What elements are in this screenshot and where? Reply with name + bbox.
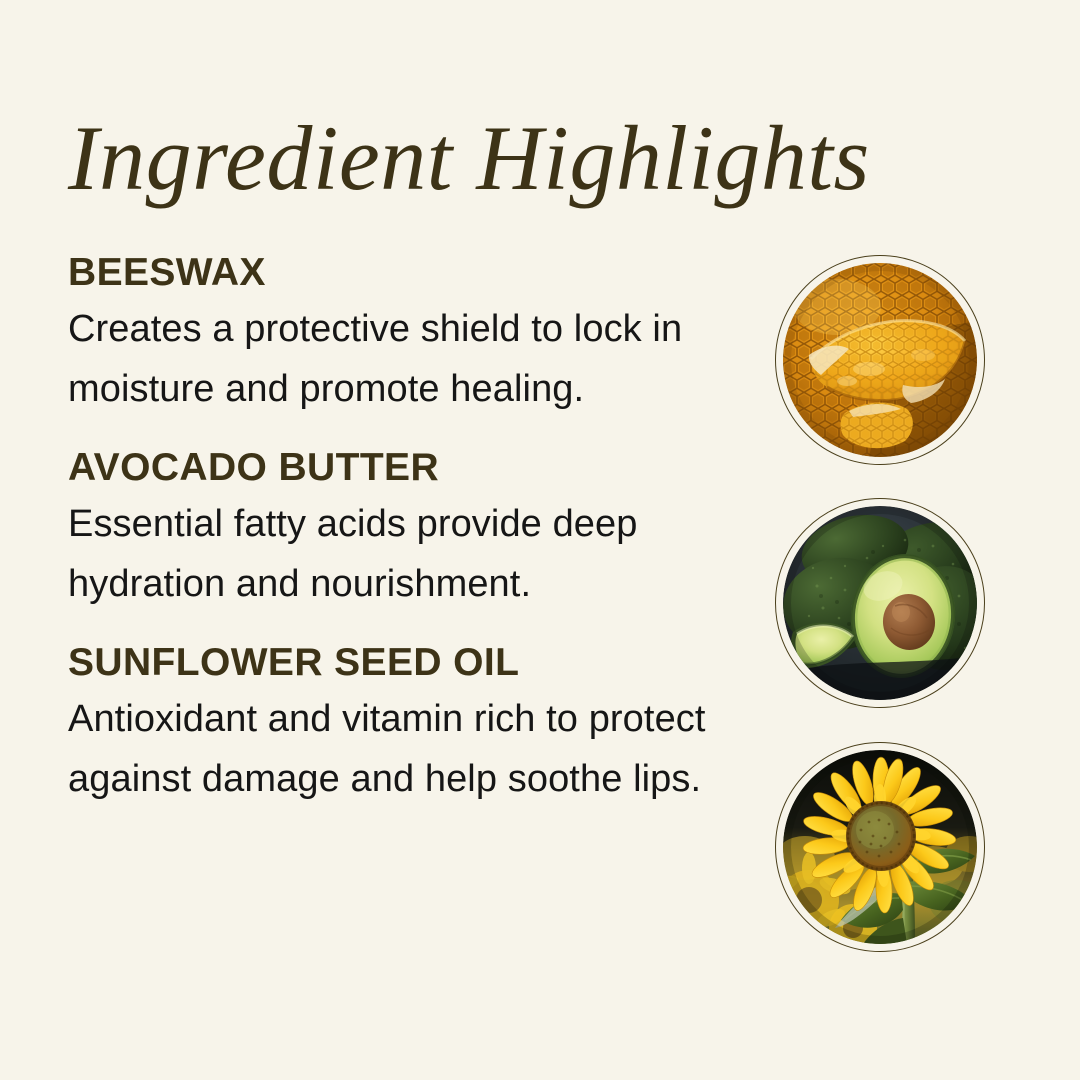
ingredient-image-beeswax: [775, 255, 985, 465]
list-item: SUNFLOWER SEED OIL Antioxidant and vitam…: [68, 642, 768, 809]
ingredient-list: BEESWAX Creates a protective shield to l…: [68, 252, 768, 810]
ingredient-description-beeswax: Creates a protective shield to lock in m…: [68, 299, 758, 419]
ingredient-image-sunflower-seed-oil: [775, 742, 985, 952]
honeycomb-photo: [783, 263, 977, 457]
sunflower-photo: [783, 750, 977, 944]
ingredient-description-sunflower-seed-oil: Antioxidant and vitamin rich to protect …: [68, 689, 758, 809]
ingredient-name-avocado-butter: AVOCADO BUTTER: [68, 447, 768, 489]
ingredient-description-avocado-butter: Essential fatty acids provide deep hydra…: [68, 494, 758, 614]
avocado-photo: [783, 506, 977, 700]
ingredient-name-sunflower-seed-oil: SUNFLOWER SEED OIL: [68, 642, 768, 684]
page-title: Ingredient Highlights: [68, 112, 870, 204]
ingredient-image-avocado-butter: [775, 498, 985, 708]
list-item: AVOCADO BUTTER Essential fatty acids pro…: [68, 447, 768, 614]
ingredient-highlights-card: Ingredient Highlights BEESWAX Creates a …: [0, 0, 1080, 1080]
ingredient-name-beeswax: BEESWAX: [68, 252, 768, 294]
ingredient-images: [760, 0, 1010, 1080]
list-item: BEESWAX Creates a protective shield to l…: [68, 252, 768, 419]
